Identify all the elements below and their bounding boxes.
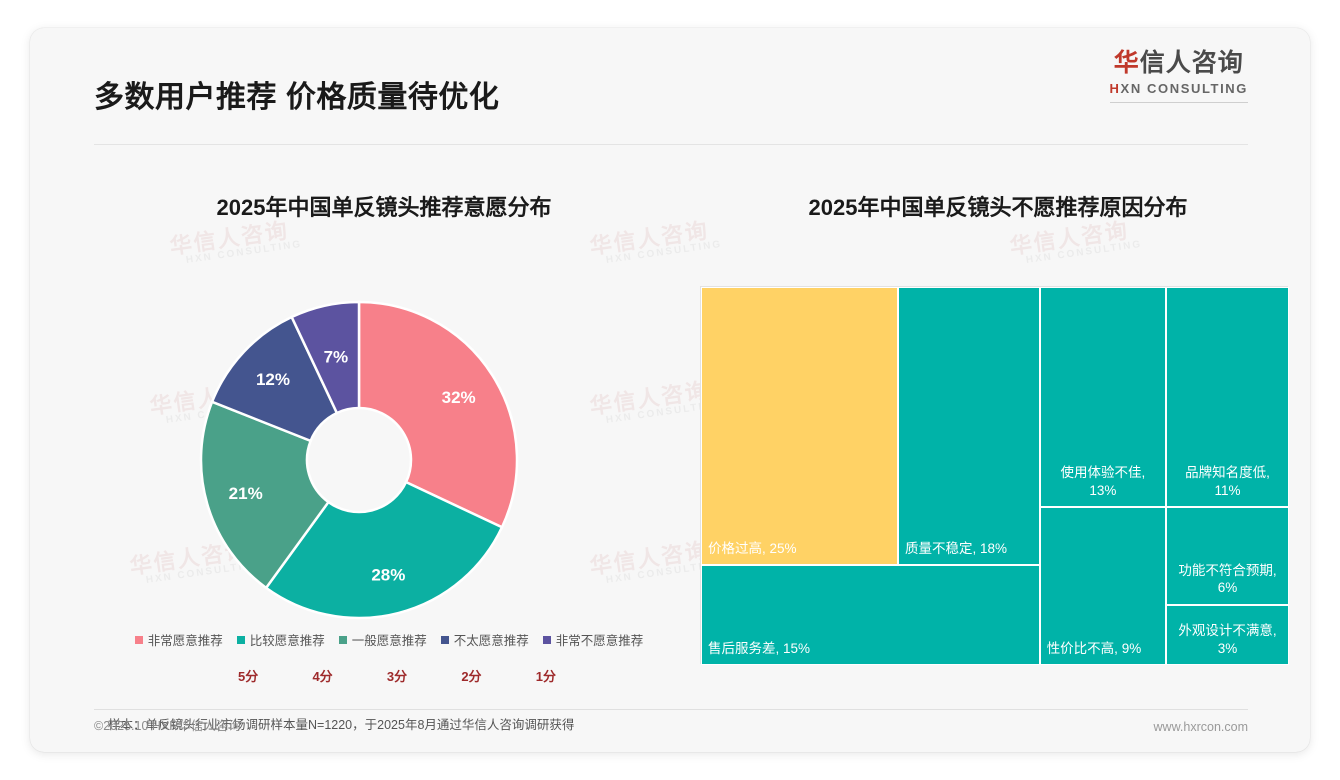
treemap-cell[interactable]: 性价比不高, 9% xyxy=(1040,507,1166,665)
company-logo: 华信人咨询 HXN CONSULTING xyxy=(1110,50,1248,103)
legend-swatch-icon xyxy=(543,636,551,644)
legend-item[interactable]: 非常不愿意推荐 xyxy=(543,630,644,649)
legend-swatch-icon xyxy=(135,636,143,644)
treemap-cell-label: 价格过高, 25% xyxy=(702,540,897,564)
legend-swatch-icon xyxy=(237,636,245,644)
header-divider xyxy=(94,144,1248,145)
legend-item[interactable]: 一般愿意推荐 xyxy=(339,630,427,649)
treemap-chart: 价格过高, 25%质量不稳定, 18%售后服务差, 15%使用体验不佳, 13%… xyxy=(700,286,1288,664)
treemap-cell-label: 售后服务差, 15% xyxy=(702,640,1039,664)
logo-cn-rest: 信人咨询 xyxy=(1140,49,1244,77)
treemap-cell-label: 功能不符合预期, 6% xyxy=(1167,562,1288,604)
legend-swatch-icon xyxy=(339,636,347,644)
right-chart-panel: 2025年中国单反镜头不愿推荐原因分布 价格过高, 25%质量不稳定, 18%售… xyxy=(698,168,1298,708)
treemap-cell[interactable]: 功能不符合预期, 6% xyxy=(1166,507,1289,605)
score-label: 2分 xyxy=(461,666,481,685)
right-chart-title: 2025年中国单反镜头不愿推荐原因分布 xyxy=(698,190,1298,222)
slide-canvas: 华信人咨询 HXN CONSULTING 华信人咨询 HXN CONSULTIN… xyxy=(30,28,1310,752)
footer-divider xyxy=(94,709,1248,710)
legend-item-label: 非常愿意推荐 xyxy=(148,630,223,649)
treemap-cell-label: 使用体验不佳, 13% xyxy=(1041,464,1165,506)
legend-item[interactable]: 比较愿意推荐 xyxy=(237,630,325,649)
donut-chart: 32%28%21%12%7% xyxy=(94,260,684,660)
donut-slices xyxy=(201,302,517,618)
legend-item[interactable]: 非常愿意推荐 xyxy=(135,630,223,649)
treemap-cell-label: 性价比不高, 9% xyxy=(1041,640,1165,664)
donut-slice-1[interactable] xyxy=(359,302,517,527)
logo-en-rest: XN CONSULTING xyxy=(1121,81,1248,96)
page-title: 多数用户推荐 价格质量待优化 xyxy=(94,72,499,116)
donut-legend: 非常愿意推荐比较愿意推荐一般愿意推荐不太愿意推荐非常不愿意推荐 xyxy=(94,630,684,649)
treemap-cell[interactable]: 品牌知名度低, 11% xyxy=(1166,287,1289,507)
logo-cn-accent: 华 xyxy=(1114,49,1140,77)
logo-underline xyxy=(1110,102,1248,103)
donut-slice-value-5: 7% xyxy=(324,348,349,367)
donut-slice-value-2: 28% xyxy=(371,565,405,584)
legend-item-label: 非常不愿意推荐 xyxy=(556,630,644,649)
logo-chinese-text: 华信人咨询 xyxy=(1110,50,1248,78)
score-label: 5分 xyxy=(238,666,258,685)
logo-en-accent: H xyxy=(1110,81,1121,96)
treemap-cell[interactable]: 价格过高, 25% xyxy=(701,287,898,565)
score-scale: 5分4分3分2分1分 xyxy=(118,666,684,685)
treemap-cell[interactable]: 外观设计不满意, 3% xyxy=(1166,605,1289,665)
treemap-cell[interactable]: 售后服务差, 15% xyxy=(701,565,1040,665)
treemap-cell-label: 外观设计不满意, 3% xyxy=(1167,622,1288,664)
treemap-cell[interactable]: 使用体验不佳, 13% xyxy=(1040,287,1166,507)
donut-slice-value-1: 32% xyxy=(442,388,476,407)
treemap-cell-label: 品牌知名度低, 11% xyxy=(1167,464,1288,506)
donut-slice-value-3: 21% xyxy=(229,484,263,503)
legend-swatch-icon xyxy=(441,636,449,644)
donut-chart-svg: 32%28%21%12%7% xyxy=(149,260,569,660)
legend-item[interactable]: 不太愿意推荐 xyxy=(441,630,529,649)
legend-item-label: 一般愿意推荐 xyxy=(352,630,427,649)
legend-item-label: 比较愿意推荐 xyxy=(250,630,325,649)
left-chart-panel: 2025年中国单反镜头推荐意愿分布 32%28%21%12%7% 非常愿意推荐比… xyxy=(94,168,684,708)
score-label: 3分 xyxy=(387,666,407,685)
score-label: 4分 xyxy=(312,666,332,685)
treemap-cell[interactable]: 质量不稳定, 18% xyxy=(898,287,1040,565)
slide-header: 多数用户推荐 价格质量待优化 华信人咨询 HXN CONSULTING xyxy=(30,28,1310,128)
treemap-cell-label: 质量不稳定, 18% xyxy=(899,540,1039,564)
logo-english-text: HXN CONSULTING xyxy=(1110,81,1248,96)
left-chart-title: 2025年中国单反镜头推荐意愿分布 xyxy=(84,190,684,222)
footer-copyright: ©2025.10 HXR华信人咨询 xyxy=(94,715,241,734)
legend-item-label: 不太愿意推荐 xyxy=(454,630,529,649)
footer-website: www.hxrcon.com xyxy=(1154,720,1248,734)
score-label: 1分 xyxy=(536,666,556,685)
donut-slice-value-4: 12% xyxy=(256,370,290,389)
